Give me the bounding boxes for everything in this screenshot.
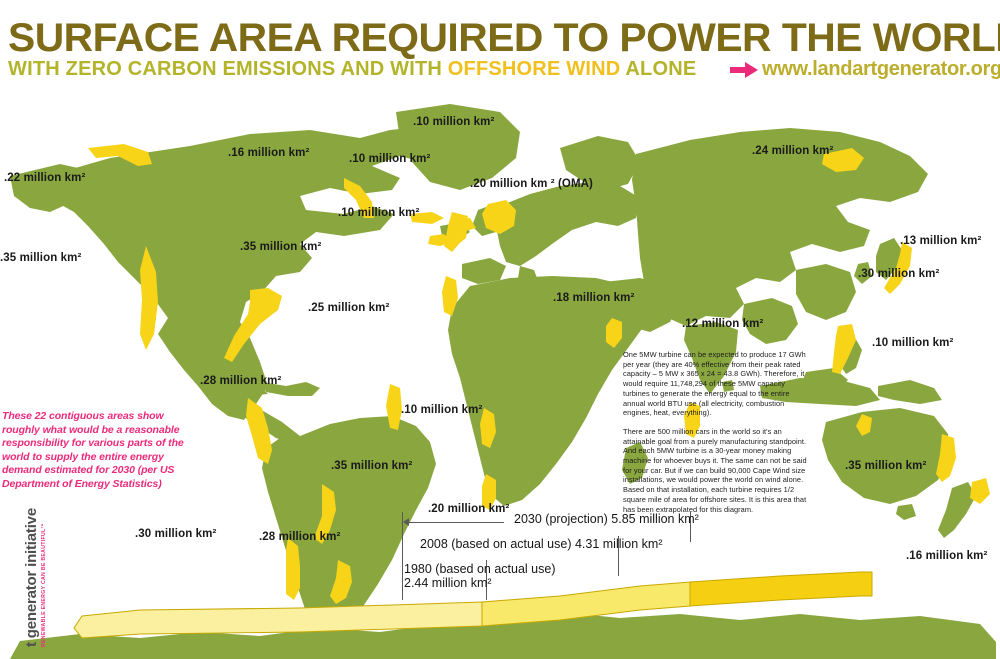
area-chile	[286, 538, 300, 600]
explanatory-text: One 5MW turbine can be expected to produ…	[623, 350, 808, 523]
explanatory-paragraph-2: There are 500 million cars in the world …	[623, 427, 808, 514]
page-subtitle: WITH ZERO CARBON EMISSIONS AND WITH OFFS…	[8, 58, 696, 80]
area-peru	[246, 398, 272, 464]
infographic-root: SURFACE AREA REQUIRED TO POWER THE WORLD…	[0, 0, 1000, 659]
label-us-east: .35 million km²	[240, 241, 321, 253]
land-new-guinea	[878, 380, 942, 404]
label-chile: .30 million km²	[135, 528, 216, 540]
header: SURFACE AREA REQUIRED TO POWER THE WORLD…	[0, 0, 1000, 88]
right-arrow-icon	[730, 62, 758, 78]
responsibility-note: These 22 contiguous areas show roughly w…	[2, 410, 202, 492]
measure-arrowhead-left	[403, 518, 409, 526]
label-west-africa-n: .25 million km²	[308, 302, 389, 314]
land-australia	[822, 408, 950, 504]
land-tasmania	[896, 504, 916, 520]
label-australia: .35 million km²	[845, 460, 926, 472]
land-iberia	[462, 258, 506, 284]
subtitle-highlight: OFFSHORE WIND	[448, 58, 621, 80]
label-kamchatka: .24 million km²	[752, 145, 833, 157]
label-greenland-ice: .10 million km²	[413, 116, 494, 128]
timeline-row-1980-line2: 2.44 million km²	[404, 576, 556, 590]
subtitle-pre: WITH ZERO CARBON EMISSIONS AND WITH	[8, 58, 448, 80]
label-iceland: .10 million km²	[349, 153, 430, 165]
measure-line-2030	[408, 522, 504, 523]
lagi-credit: t generator initiative RENEWABLE ENERGY …	[23, 497, 47, 647]
label-east-china: .30 million km²	[858, 268, 939, 280]
timeline-row-2008: 2008 (based on actual use) 4.31 million …	[420, 537, 663, 551]
land-asia-russia	[632, 128, 928, 326]
label-japan: .13 million km²	[900, 235, 981, 247]
label-brazil-south: .35 million km²	[331, 460, 412, 472]
label-argentina: .28 million km²	[259, 531, 340, 543]
label-north-sea: .20 million km ² (OMA)	[470, 178, 593, 190]
explanatory-paragraph-1: One 5MW turbine can be expected to produ…	[623, 350, 808, 418]
timeline-row-1980: 1980 (based on actual use) 2.44 million …	[404, 562, 556, 590]
label-new-zealand: .16 million km²	[906, 550, 987, 562]
area-timeline-legend: 2030 (projection) 5.85 million km² 2008 …	[402, 512, 822, 602]
label-us-west: .35 million km²	[0, 252, 81, 264]
land-china-east	[796, 264, 856, 320]
lagi-credit-tagline: RENEWABLE ENERGY CAN BE BEAUTIFUL™	[41, 497, 47, 647]
label-alaska: .22 million km²	[4, 172, 85, 184]
label-gulf-guinea: .10 million km²	[401, 404, 482, 416]
timeline-row-1980-line1: 1980 (based on actual use)	[404, 562, 556, 576]
label-iberia: .10 million km²	[338, 207, 419, 219]
label-arabian: .18 million km²	[553, 292, 634, 304]
label-peru: .28 million km²	[200, 375, 281, 387]
subtitle-post: ALONE	[620, 58, 696, 80]
label-india: .12 million km²	[682, 318, 763, 330]
land-europe	[496, 182, 640, 266]
website-url[interactable]: www.landartgenerator.org	[762, 58, 1000, 80]
land-new-zealand	[938, 482, 976, 538]
label-philippines: .10 million km²	[872, 337, 953, 349]
lagi-credit-main: t generator initiative	[23, 497, 40, 647]
area-british	[444, 212, 468, 252]
label-labrador: .16 million km²	[228, 147, 309, 159]
timeline-row-2030: 2030 (projection) 5.85 million km²	[514, 512, 699, 526]
page-title: SURFACE AREA REQUIRED TO POWER THE WORLD	[8, 18, 1000, 58]
